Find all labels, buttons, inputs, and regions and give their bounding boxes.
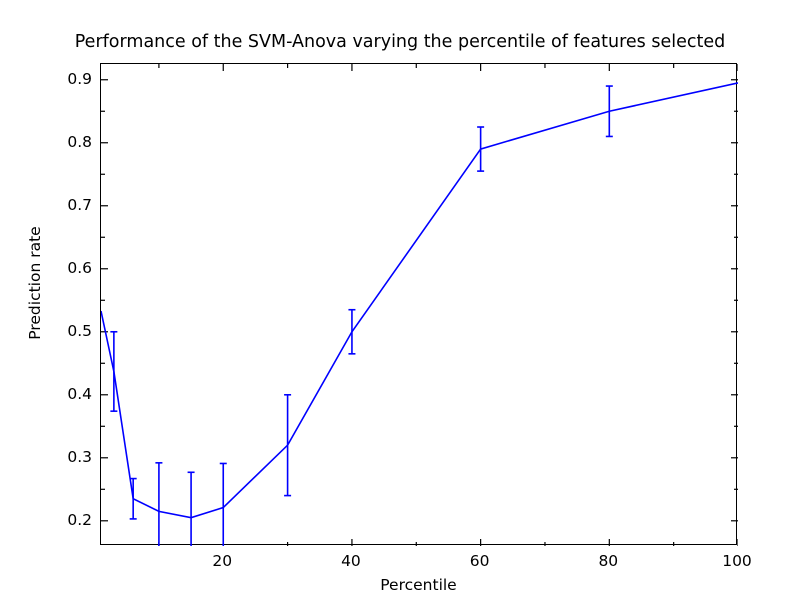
x-tick-label: 60 [440, 552, 520, 570]
y-tick-label: 0.9 [32, 70, 92, 88]
y-tick-label: 0.2 [32, 511, 92, 529]
x-axis-tick-labels: 20406080100 [100, 552, 737, 576]
plot-svg [101, 64, 738, 546]
axis-ticks [101, 64, 738, 546]
matplotlib-figure: Performance of the SVM-Anova varying the… [0, 0, 800, 600]
x-tick-label: 20 [182, 552, 262, 570]
x-tick-label: 40 [311, 552, 391, 570]
x-tick-label: 80 [568, 552, 648, 570]
x-axis-label: Percentile [100, 576, 737, 594]
errorbar-group [110, 86, 612, 546]
errorbar [188, 472, 195, 546]
chart-title: Performance of the SVM-Anova varying the… [0, 32, 800, 52]
x-tick-label: 100 [697, 552, 777, 570]
y-tick-label: 0.4 [32, 385, 92, 403]
data-line-series-0 [101, 83, 738, 518]
y-tick-label: 0.3 [32, 448, 92, 466]
plot-axes-frame [100, 63, 737, 545]
y-tick-label: 0.8 [32, 133, 92, 151]
errorbar [155, 463, 162, 546]
y-axis-label: Prediction rate [26, 193, 44, 373]
